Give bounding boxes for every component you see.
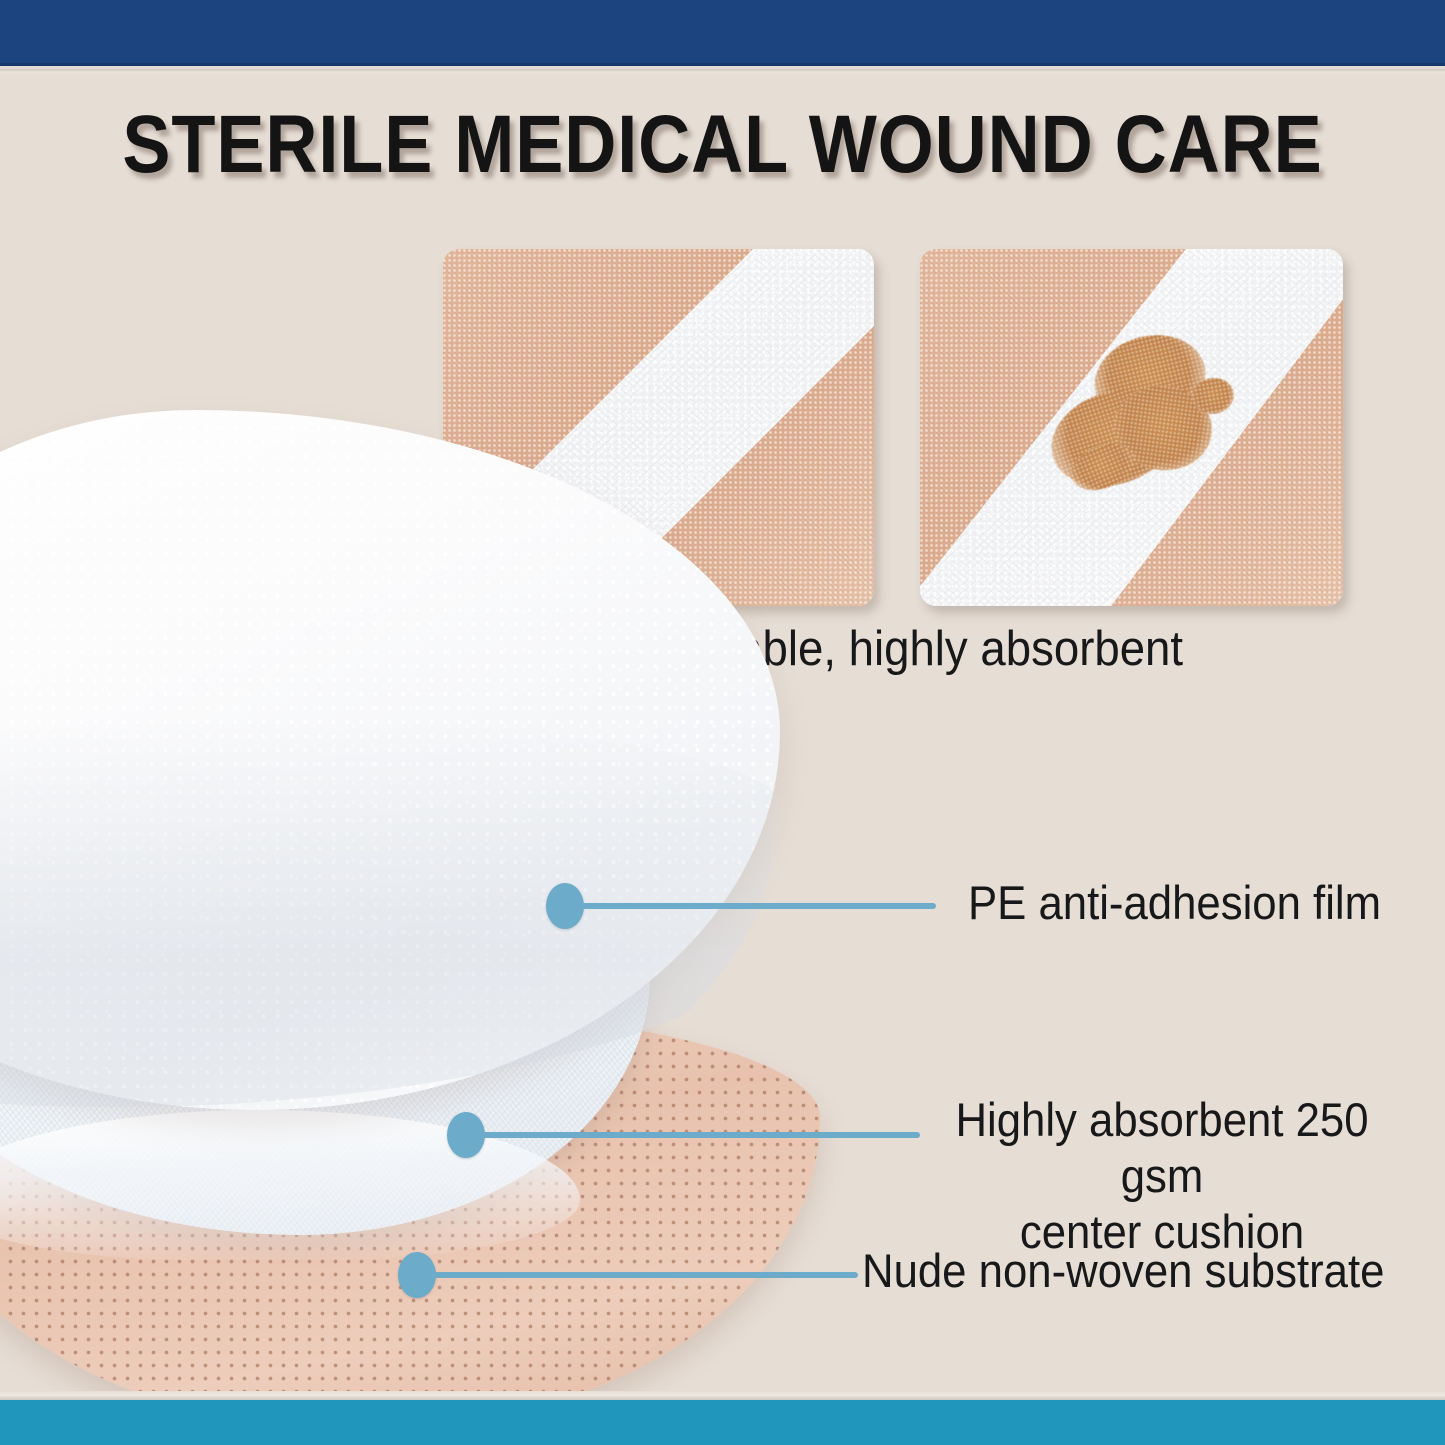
callout-leader-line	[430, 1272, 858, 1278]
panel-absorbed-pad-closeup	[920, 249, 1343, 606]
callout-leader-line	[479, 1132, 920, 1138]
callout-leader-line	[578, 903, 936, 909]
header-bar	[0, 0, 1445, 66]
header-divider	[0, 69, 1445, 74]
footer-bar	[0, 1400, 1445, 1445]
page-title: STERILE MEDICAL WOUND CARE	[87, 103, 1359, 187]
callout-label-nude-substrate: Nude non-woven substrate	[862, 1243, 1384, 1299]
callout-label-line-1: Highly absorbent 250 gsm	[916, 1092, 1409, 1204]
exudate-stain	[1042, 334, 1257, 514]
callout-label-pe-film: PE anti-adhesion film	[968, 875, 1381, 931]
infographic-canvas: STERILE MEDICAL WOUND CARE Breathable, h…	[0, 0, 1445, 1445]
callout-label-center-cushion: Highly absorbent 250 gsm center cushion	[916, 1092, 1409, 1260]
footer-divider	[0, 1391, 1445, 1400]
product-photo-layered-dressing	[0, 420, 910, 1400]
